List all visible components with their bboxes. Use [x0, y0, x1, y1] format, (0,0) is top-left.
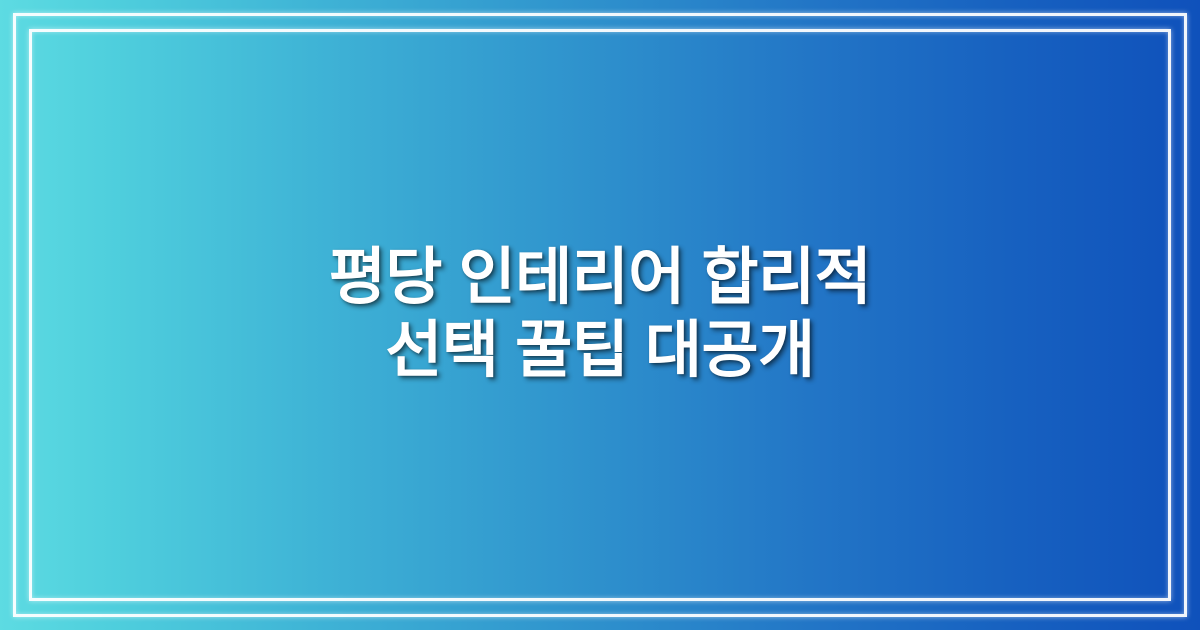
headline-line-2: 선택 꿀팁 대공개 [385, 315, 814, 388]
thumbnail-canvas: 평당 인테리어 합리적 선택 꿀팁 대공개 [0, 0, 1200, 630]
headline-block: 평당 인테리어 합리적 선택 꿀팁 대공개 [0, 0, 1200, 630]
headline-line-1: 평당 인테리어 합리적 [329, 242, 871, 315]
